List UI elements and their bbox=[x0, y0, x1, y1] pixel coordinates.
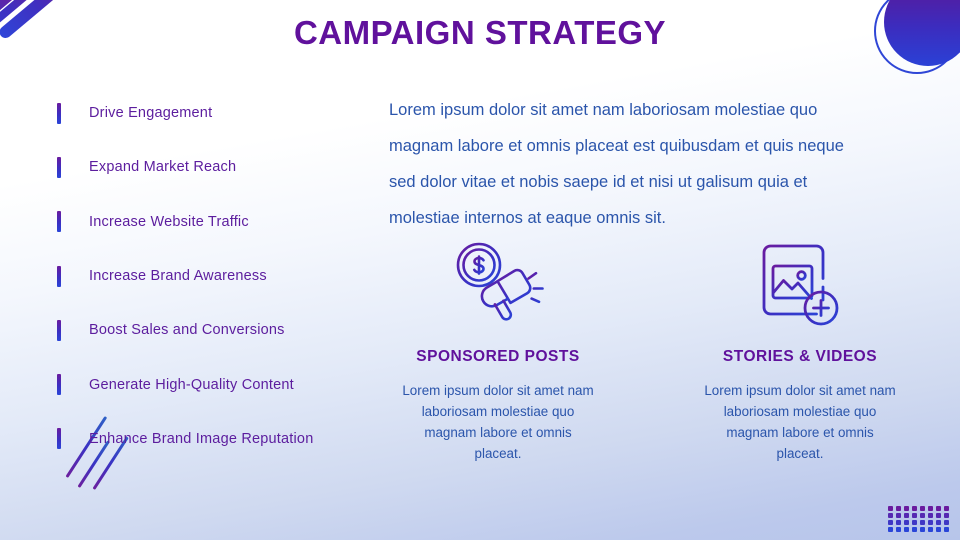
feature-sponsored-posts: SPONSORED POSTS Lorem ipsum dolor sit am… bbox=[389, 236, 607, 464]
grid-dot bbox=[936, 520, 941, 525]
grid-dot bbox=[944, 513, 949, 518]
bullet-bar-icon bbox=[57, 320, 61, 341]
grid-dot bbox=[896, 513, 901, 518]
feature-heading: SPONSORED POSTS bbox=[389, 348, 607, 366]
lead-paragraph: Lorem ipsum dolor sit amet nam laboriosa… bbox=[389, 92, 864, 236]
list-item[interactable]: Increase Website Traffic bbox=[57, 195, 387, 249]
add-image-card-icon bbox=[691, 236, 909, 336]
grid-dot bbox=[904, 520, 909, 525]
dot-grid-decoration bbox=[888, 506, 952, 534]
grid-dot bbox=[912, 513, 917, 518]
diagonal-lines-decoration bbox=[0, 468, 110, 538]
grid-dot bbox=[888, 513, 893, 518]
grid-dot bbox=[920, 506, 925, 511]
grid-dot bbox=[888, 527, 893, 532]
bullet-bar-icon bbox=[57, 211, 61, 232]
list-item-label: Drive Engagement bbox=[89, 105, 212, 121]
grid-dot bbox=[928, 520, 933, 525]
grid-dot bbox=[904, 506, 909, 511]
bullet-bar-icon bbox=[57, 103, 61, 124]
grid-dot bbox=[896, 527, 901, 532]
bullet-bar-icon bbox=[57, 428, 61, 449]
grid-dot bbox=[912, 506, 917, 511]
grid-dot bbox=[904, 527, 909, 532]
grid-dot bbox=[896, 520, 901, 525]
grid-dot bbox=[944, 506, 949, 511]
grid-dot bbox=[904, 513, 909, 518]
grid-dot bbox=[936, 527, 941, 532]
bullet-bar-icon bbox=[57, 374, 61, 395]
grid-dot bbox=[944, 527, 949, 532]
megaphone-dollar-icon bbox=[389, 236, 607, 336]
grid-dot bbox=[936, 506, 941, 511]
list-item-label: Increase Brand Awareness bbox=[89, 268, 267, 284]
goal-list: Drive Engagement Expand Market Reach Inc… bbox=[57, 86, 387, 466]
grid-dot bbox=[920, 513, 925, 518]
feature-stories-videos: STORIES & VIDEOS Lorem ipsum dolor sit a… bbox=[691, 236, 909, 464]
grid-dot bbox=[928, 527, 933, 532]
grid-dot bbox=[912, 527, 917, 532]
feature-columns: SPONSORED POSTS Lorem ipsum dolor sit am… bbox=[389, 236, 909, 464]
list-item[interactable]: Generate High-Quality Content bbox=[57, 357, 387, 411]
list-item-label: Expand Market Reach bbox=[89, 159, 236, 175]
grid-dot bbox=[920, 527, 925, 532]
feature-body: Lorem ipsum dolor sit amet nam laboriosa… bbox=[704, 380, 896, 464]
grid-dot bbox=[896, 506, 901, 511]
grid-dot bbox=[888, 520, 893, 525]
grid-dot bbox=[912, 520, 917, 525]
grid-dot bbox=[944, 520, 949, 525]
list-item[interactable]: Enhance Brand Image Reputation bbox=[57, 412, 387, 466]
grid-dot bbox=[928, 513, 933, 518]
list-item[interactable]: Expand Market Reach bbox=[57, 140, 387, 194]
list-item-label: Enhance Brand Image Reputation bbox=[89, 431, 313, 447]
list-item-label: Boost Sales and Conversions bbox=[89, 322, 285, 338]
bullet-bar-icon bbox=[57, 266, 61, 287]
grid-dot bbox=[888, 506, 893, 511]
bullet-bar-icon bbox=[57, 157, 61, 178]
grid-dot bbox=[920, 520, 925, 525]
list-item[interactable]: Increase Brand Awareness bbox=[57, 249, 387, 303]
list-item-label: Increase Website Traffic bbox=[89, 214, 249, 230]
page-title: CAMPAIGN STRATEGY bbox=[0, 14, 960, 52]
feature-body: Lorem ipsum dolor sit amet nam laboriosa… bbox=[402, 380, 594, 464]
grid-dot bbox=[936, 513, 941, 518]
list-item[interactable]: Boost Sales and Conversions bbox=[57, 303, 387, 357]
slide-canvas: CAMPAIGN STRATEGY Drive Engagement Expan… bbox=[0, 0, 960, 540]
list-item[interactable]: Drive Engagement bbox=[57, 86, 387, 140]
feature-heading: STORIES & VIDEOS bbox=[691, 348, 909, 366]
grid-dot bbox=[928, 506, 933, 511]
list-item-label: Generate High-Quality Content bbox=[89, 377, 294, 393]
